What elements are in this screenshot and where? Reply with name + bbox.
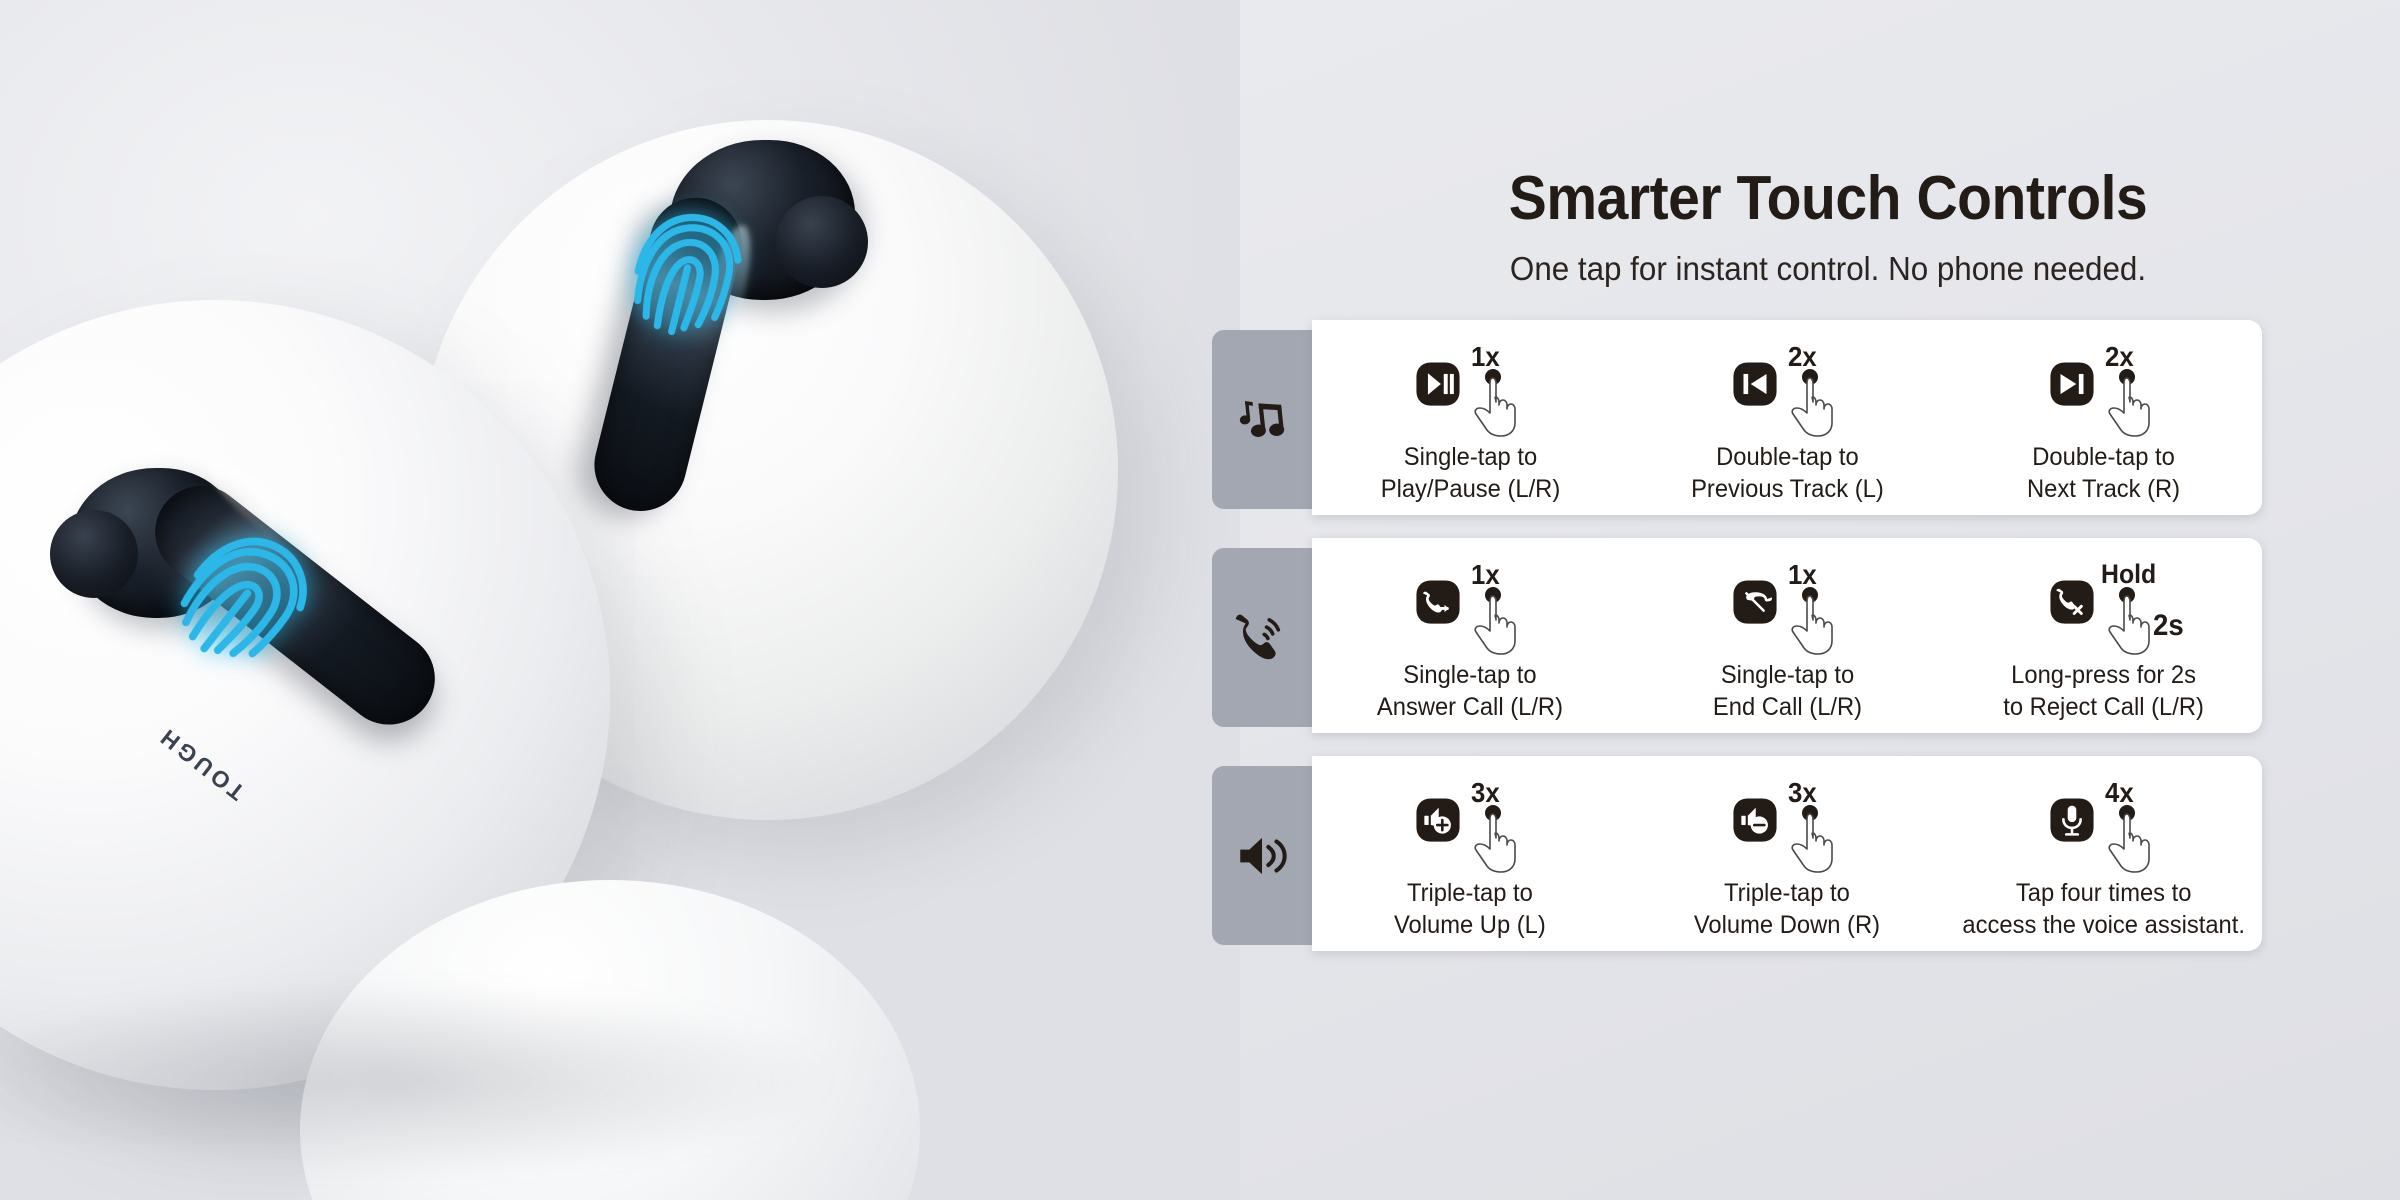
earbud-right [540, 130, 1020, 550]
tap-count-label: 1x [1788, 561, 1817, 589]
tap-count-label: 4x [2105, 779, 2134, 807]
volume-down-icon [1732, 797, 1778, 843]
control-item-graphic: 2x [1732, 345, 1842, 437]
control-item-graphic: 3x [1415, 781, 1525, 873]
control-card-body: 3xTriple-tap to Volume Up (L)3xTriple-ta… [1312, 756, 2262, 951]
tap-count-label: Hold [2101, 561, 2156, 588]
tapping-hand-icon [1782, 369, 1840, 437]
control-item-graphic: 1x [1415, 563, 1525, 655]
control-item[interactable]: 1xSingle-tap to Play/Pause (L/R) [1312, 331, 1629, 505]
control-item[interactable]: 4xTap four times to access the voice ass… [1945, 767, 2262, 941]
tap-gesture-indicator: 1x [1463, 563, 1525, 655]
control-item-label: Long-press for 2s to Reject Call (L/R) [2003, 659, 2204, 723]
tapping-hand-icon [1782, 587, 1840, 655]
info-panel: Smarter Touch Controls One tap for insta… [1240, 0, 2400, 1200]
product-photo-scene: TOUGH [0, 0, 1240, 1200]
tap-gesture-indicator: 2x [2097, 345, 2159, 437]
control-item-graphic: 2x [2049, 345, 2159, 437]
answer-call-icon [1415, 579, 1461, 625]
microphone-icon [2049, 797, 2095, 843]
tapping-hand-icon [2099, 369, 2157, 437]
control-item[interactable]: 1xSingle-tap to Answer Call (L/R) [1312, 549, 1629, 723]
control-item-label: Double-tap to Previous Track (L) [1691, 441, 1884, 505]
scene-shadow [0, 980, 840, 1180]
reject-call-icon [2049, 579, 2095, 625]
tap-gesture-indicator: 1x [1463, 345, 1525, 437]
tap-gesture-indicator: 4x [2097, 781, 2159, 873]
tap-count-label: 3x [1471, 779, 1500, 807]
tap-count-label: 2x [1788, 343, 1817, 371]
phone-call-icon [1212, 548, 1312, 727]
next-track-icon [2049, 361, 2095, 407]
tap-count-label: 3x [1788, 779, 1817, 807]
page-subtitle: One tap for instant control. No phone ne… [1344, 252, 2313, 285]
control-item-graphic: 1x [1732, 563, 1842, 655]
control-item-label: Double-tap to Next Track (R) [2027, 441, 2180, 505]
control-item[interactable]: 2xDouble-tap to Next Track (R) [1945, 331, 2262, 505]
page-title: Smarter Touch Controls [1359, 168, 2297, 230]
control-card: 1xSingle-tap to Play/Pause (L/R)2xDouble… [1212, 320, 2372, 515]
tap-gesture-indicator: 3x [1463, 781, 1525, 873]
tapping-hand-icon [1465, 369, 1523, 437]
control-card-body: 1xSingle-tap to Answer Call (L/R)1xSingl… [1312, 538, 2262, 733]
control-item-label: Triple-tap to Volume Down (R) [1694, 877, 1880, 941]
control-item[interactable]: 3xTriple-tap to Volume Down (R) [1629, 767, 1946, 941]
control-item-label: Single-tap to End Call (L/R) [1712, 659, 1861, 723]
control-item-graphic: 3x [1732, 781, 1842, 873]
tapping-hand-icon [2099, 587, 2157, 655]
earbud-right-eartip [776, 196, 868, 288]
control-card: 3xTriple-tap to Volume Up (L)3xTriple-ta… [1212, 756, 2372, 951]
control-item[interactable]: 2xDouble-tap to Previous Track (L) [1629, 331, 1946, 505]
tap-gesture-indicator: 1x [1780, 563, 1842, 655]
tapping-hand-icon [2099, 805, 2157, 873]
control-card: 1xSingle-tap to Answer Call (L/R)1xSingl… [1212, 538, 2372, 733]
control-item-label: Single-tap to Play/Pause (L/R) [1381, 441, 1561, 505]
volume-up-icon [1415, 797, 1461, 843]
control-item-label: Single-tap to Answer Call (L/R) [1377, 659, 1563, 723]
hold-duration-label: 2s [2153, 611, 2184, 641]
tapping-hand-icon [1465, 587, 1523, 655]
play-pause-icon [1415, 361, 1461, 407]
control-item-label: Triple-tap to Volume Up (L) [1394, 877, 1546, 941]
control-item-graphic: 1x [1415, 345, 1525, 437]
tap-gesture-indicator: 2x [1780, 345, 1842, 437]
speaker-icon [1212, 766, 1312, 945]
end-call-icon [1732, 579, 1778, 625]
tap-gesture-indicator: 3x [1780, 781, 1842, 873]
control-item[interactable]: 1xSingle-tap to End Call (L/R) [1629, 549, 1946, 723]
control-item[interactable]: Hold2sLong-press for 2s to Reject Call (… [1945, 549, 2262, 723]
previous-track-icon [1732, 361, 1778, 407]
control-item-graphic: Hold2s [2049, 563, 2159, 655]
control-item[interactable]: 3xTriple-tap to Volume Up (L) [1312, 767, 1629, 941]
tapping-hand-icon [1465, 805, 1523, 873]
control-item-label: Tap four times to access the voice assis… [1962, 877, 2245, 941]
control-item-graphic: 4x [2049, 781, 2159, 873]
tap-gesture-indicator: Hold2s [2097, 563, 2159, 655]
tap-count-label: 1x [1471, 343, 1500, 371]
tap-count-label: 1x [1471, 561, 1500, 589]
music-note-icon [1212, 330, 1312, 509]
earbud-left-eartip [50, 510, 138, 598]
control-card-body: 1xSingle-tap to Play/Pause (L/R)2xDouble… [1312, 320, 2262, 515]
tap-count-label: 2x [2105, 343, 2134, 371]
tapping-hand-icon [1782, 805, 1840, 873]
control-cards-list: 1xSingle-tap to Play/Pause (L/R)2xDouble… [1212, 320, 2372, 974]
